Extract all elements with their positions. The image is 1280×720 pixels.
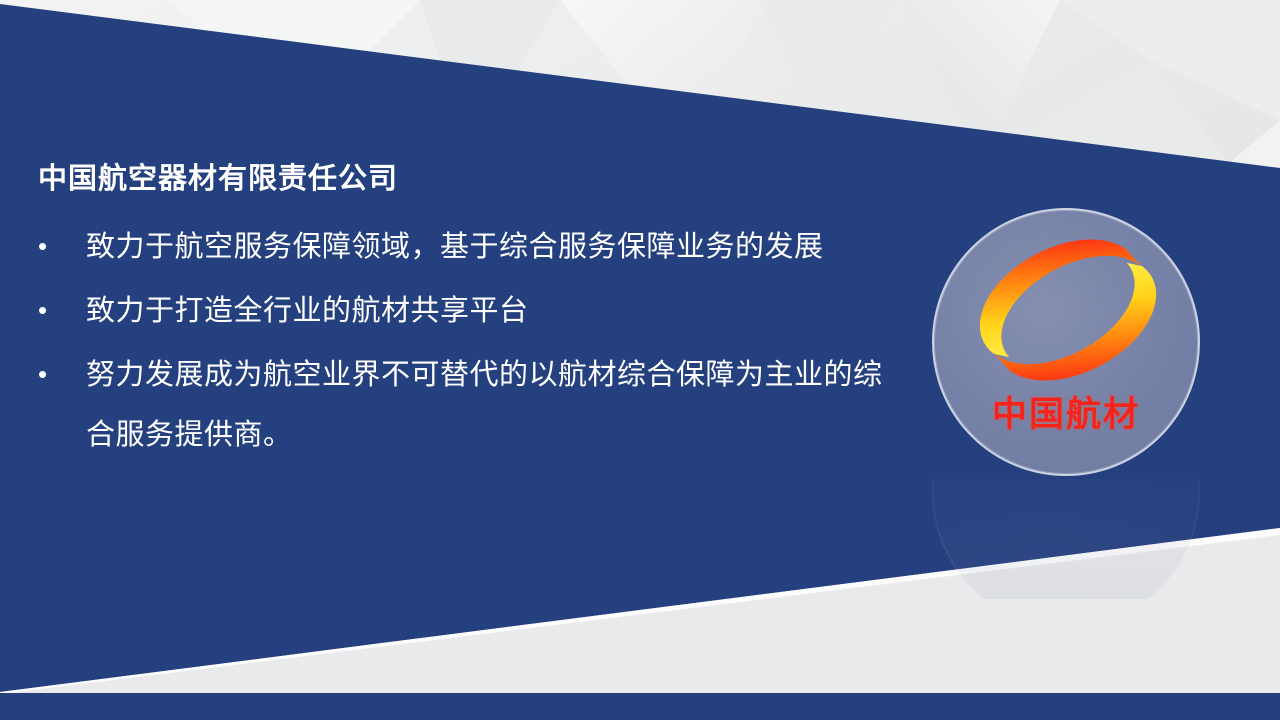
bullet-marker-icon: •: [34, 280, 86, 340]
logo-reflection: 中国航材: [932, 479, 1200, 599]
list-item: • 致力于打造全行业的航材共享平台: [34, 280, 894, 340]
list-item-text: 努力发展成为航空业界不可替代的以航材综合保障为主业的综合服务提供商。: [86, 344, 894, 464]
page-title: 中国航空器材有限责任公司: [38, 155, 398, 197]
list-item-text: 致力于航空服务保障领域，基于综合服务保障业务的发展: [86, 216, 894, 276]
list-item: • 努力发展成为航空业界不可替代的以航材综合保障为主业的综合服务提供商。: [34, 344, 894, 464]
slide: 中国航空器材有限责任公司 • 致力于航空服务保障领域，基于综合服务保障业务的发展…: [0, 0, 1280, 720]
bullet-marker-icon: •: [34, 344, 86, 404]
slide-content: 中国航空器材有限责任公司 • 致力于航空服务保障领域，基于综合服务保障业务的发展…: [0, 0, 1280, 720]
logo-text: 中国航材: [934, 386, 1198, 437]
list-item-text: 致力于打造全行业的航材共享平台: [86, 280, 894, 340]
company-logo: 中国航材: [932, 208, 1200, 476]
logo-disc: 中国航材: [932, 208, 1200, 476]
bullet-list: • 致力于航空服务保障领域，基于综合服务保障业务的发展 • 致力于打造全行业的航…: [34, 216, 894, 468]
logo-reflection-disc: [932, 479, 1200, 599]
bullet-marker-icon: •: [34, 216, 86, 276]
list-item: • 致力于航空服务保障领域，基于综合服务保障业务的发展: [34, 216, 894, 276]
